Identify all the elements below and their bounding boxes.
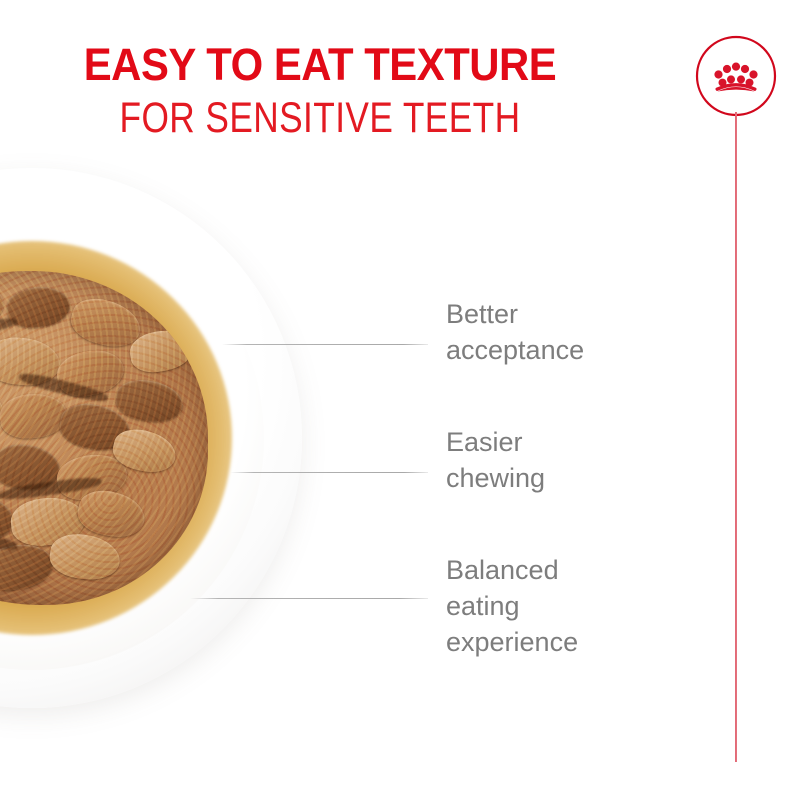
callout-label-1: Better acceptance (446, 296, 584, 368)
bowl-of-wet-cat-food (0, 168, 302, 708)
headline-secondary: FOR SENSITIVE TEETH (58, 94, 583, 142)
bowl-rim (0, 168, 302, 708)
food-chunks-mound (0, 271, 208, 606)
royal-canin-crown-logo (694, 34, 778, 118)
food-texture-overlay (0, 271, 208, 606)
callout-label-2: Easier chewing (446, 424, 545, 496)
headline-primary: EASY TO EAT TEXTURE (22, 40, 617, 90)
promo-banner: EASY TO EAT TEXTURE FOR SENSITIVE TEETH (0, 0, 800, 800)
callout-label-3: Balanced eating experience (446, 552, 578, 660)
page-title: EASY TO EAT TEXTURE FOR SENSITIVE TEETH (0, 40, 640, 142)
leader-line-3 (190, 598, 428, 599)
leader-line-1 (222, 344, 428, 345)
leader-line-2 (230, 472, 428, 473)
logo-vertical-line (735, 112, 737, 762)
